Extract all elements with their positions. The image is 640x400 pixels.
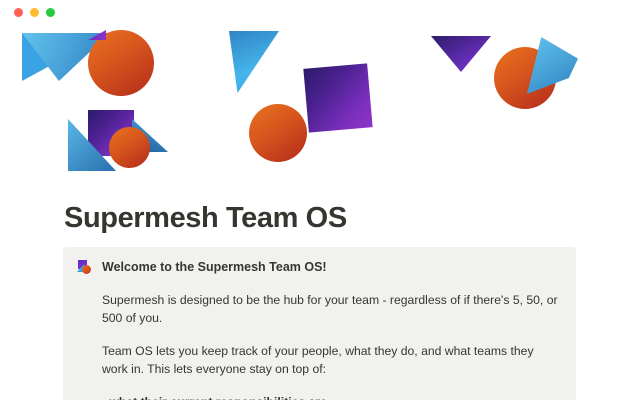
blue-triangle-icon (229, 31, 279, 93)
purple-square-icon (303, 63, 372, 132)
app-window: Supermesh Team OS Welcome to the Superme… (0, 0, 640, 400)
callout-paragraph: Team OS lets you keep track of your peop… (77, 342, 560, 378)
orange-circle-icon (249, 104, 307, 162)
cover-image[interactable] (0, 14, 640, 186)
page-title[interactable]: Supermesh Team OS (64, 202, 347, 235)
orange-circle-icon (109, 127, 150, 168)
callout-block[interactable]: Welcome to the Supermesh Team OS! Superm… (63, 247, 576, 400)
document-body: Supermesh Team OS Welcome to the Superme… (0, 186, 640, 400)
callout-bullet: - what their current responsibilities ar… (77, 393, 560, 400)
callout-header: Welcome to the Supermesh Team OS! (77, 259, 560, 276)
purple-triangle-icon (431, 36, 491, 72)
callout-title: Welcome to the Supermesh Team OS! (102, 259, 327, 276)
supermesh-logo-icon (77, 260, 92, 275)
callout-paragraph: Supermesh is designed to be the hub for … (77, 291, 560, 327)
